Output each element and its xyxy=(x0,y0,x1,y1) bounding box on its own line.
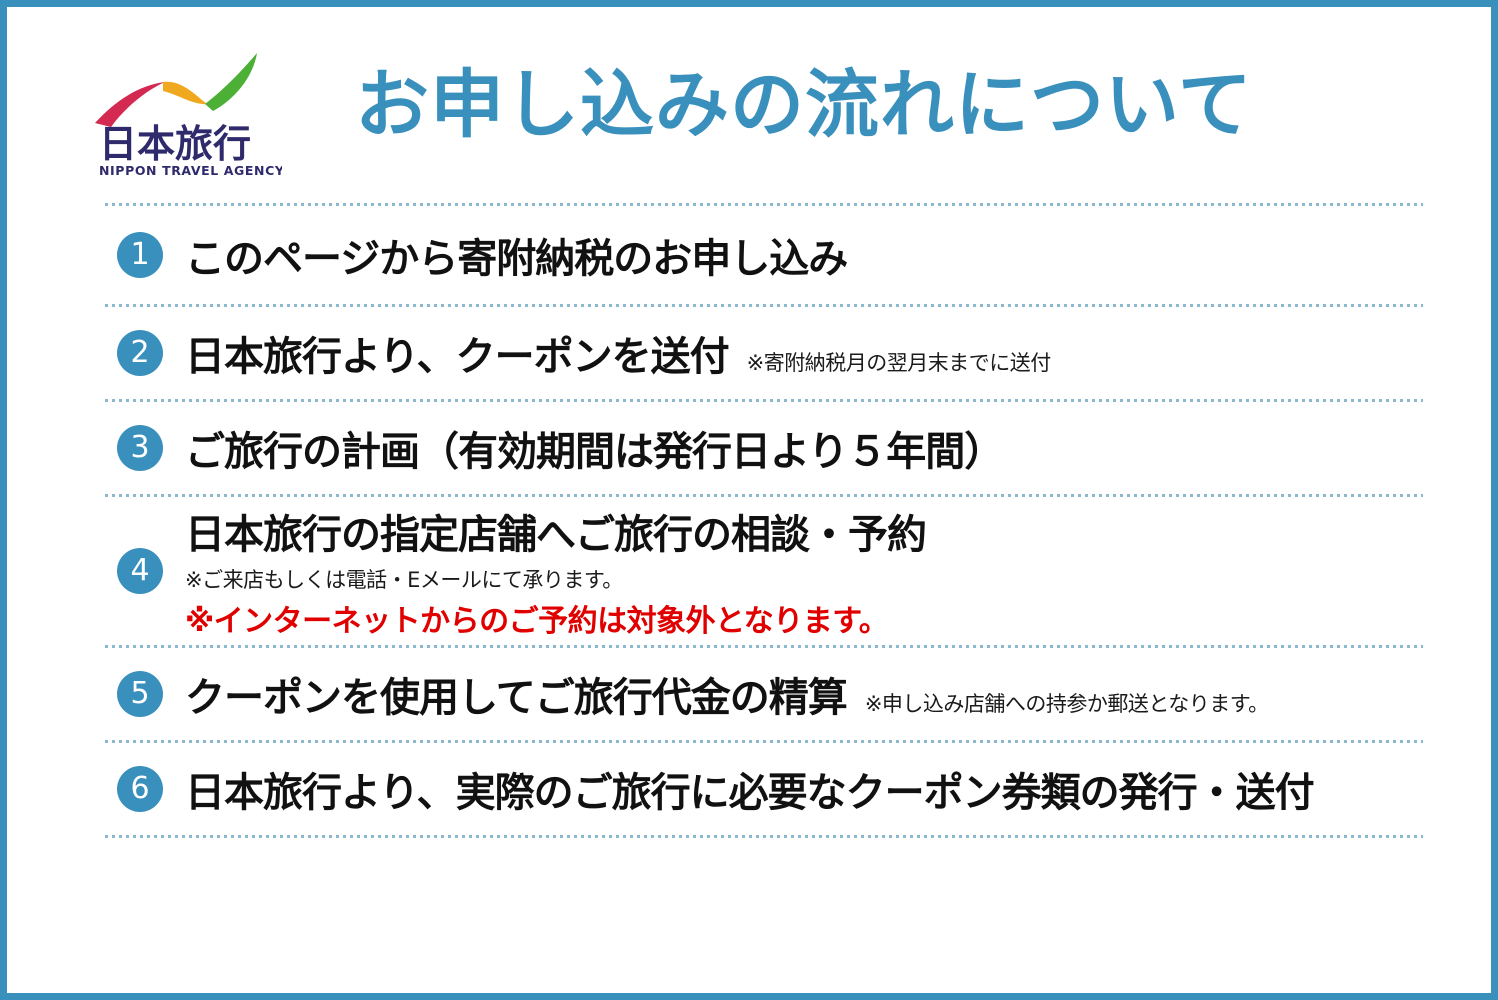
step-title: このページから寄附納税のお申し込み xyxy=(185,226,847,284)
step-content: このページから寄附納税のお申し込み xyxy=(185,226,1423,284)
step-number-badge: 2 xyxy=(117,330,163,376)
poster-frame: 日本旅行 NIPPON TRAVEL AGENCY お申し込みの流れについて 1… xyxy=(0,0,1498,1000)
step-number-badge: 3 xyxy=(117,425,163,471)
step-title: 日本旅行の指定店舗へご旅行の相談・予約 xyxy=(185,502,926,560)
step-title: ご旅行の計画（有効期間は発行日より５年間） xyxy=(185,419,1003,477)
steps-list: 1 このページから寄附納税のお申し込み 2 日本旅行より、クーポンを送付 ※寄附… xyxy=(105,203,1423,838)
step-content: ご旅行の計画（有効期間は発行日より５年間） xyxy=(185,419,1423,477)
step-main-line: 日本旅行の指定店舗へご旅行の相談・予約 xyxy=(185,502,1423,560)
step-number-badge: 4 xyxy=(117,548,163,594)
logo-english-text: NIPPON TRAVEL AGENCY xyxy=(99,163,282,178)
page-title: お申し込みの流れについて xyxy=(355,63,1253,148)
logo-japanese-text: 日本旅行 xyxy=(99,122,251,166)
step-number-badge: 1 xyxy=(117,232,163,278)
step-row: 2 日本旅行より、クーポンを送付 ※寄附納税月の翌月末までに送付 xyxy=(105,307,1423,399)
step-note: ※寄附納税月の翌月末までに送付 xyxy=(747,347,1051,377)
step-row: 4 日本旅行の指定店舗へご旅行の相談・予約 ※ご来店もしくは電話・Eメールにて承… xyxy=(105,497,1423,645)
step-row: 1 このページから寄附納税のお申し込み xyxy=(105,206,1423,304)
step-title: 日本旅行より、クーポンを送付 xyxy=(185,324,729,382)
step-main-line: このページから寄附納税のお申し込み xyxy=(185,226,1423,284)
step-note: ※申し込み店舗への持参か郵送となります。 xyxy=(865,688,1269,718)
step-row: 5 クーポンを使用してご旅行代金の精算 ※申し込み店舗への持参か郵送となります。 xyxy=(105,648,1423,740)
step-row: 3 ご旅行の計画（有効期間は発行日より５年間） xyxy=(105,402,1423,494)
step-main-line: ご旅行の計画（有効期間は発行日より５年間） xyxy=(185,419,1423,477)
step-title: クーポンを使用してご旅行代金の精算 xyxy=(185,665,847,723)
footer: ご旅行を実施 xyxy=(7,807,1491,1000)
step-number-badge: 5 xyxy=(117,671,163,717)
step-content: 日本旅行の指定店舗へご旅行の相談・予約 ※ご来店もしくは電話・Eメールにて承りま… xyxy=(185,502,1423,640)
step-content: 日本旅行より、クーポンを送付 ※寄附納税月の翌月末までに送付 xyxy=(185,324,1423,382)
step-number-badge: 6 xyxy=(117,766,163,812)
step-content: クーポンを使用してご旅行代金の精算 ※申し込み店舗への持参か郵送となります。 xyxy=(185,665,1423,723)
step-alert-note: ※インターネットからのご予約は対象外となります。 xyxy=(185,596,1423,640)
step-note: ※ご来店もしくは電話・Eメールにて承ります。 xyxy=(185,564,1423,594)
step-main-line: クーポンを使用してご旅行代金の精算 ※申し込み店舗への持参か郵送となります。 xyxy=(185,665,1423,723)
step-main-line: 日本旅行より、クーポンを送付 ※寄附納税月の翌月末までに送付 xyxy=(185,324,1423,382)
nippon-travel-agency-logo: 日本旅行 NIPPON TRAVEL AGENCY xyxy=(87,49,282,181)
header: 日本旅行 NIPPON TRAVEL AGENCY お申し込みの流れについて xyxy=(7,7,1491,197)
